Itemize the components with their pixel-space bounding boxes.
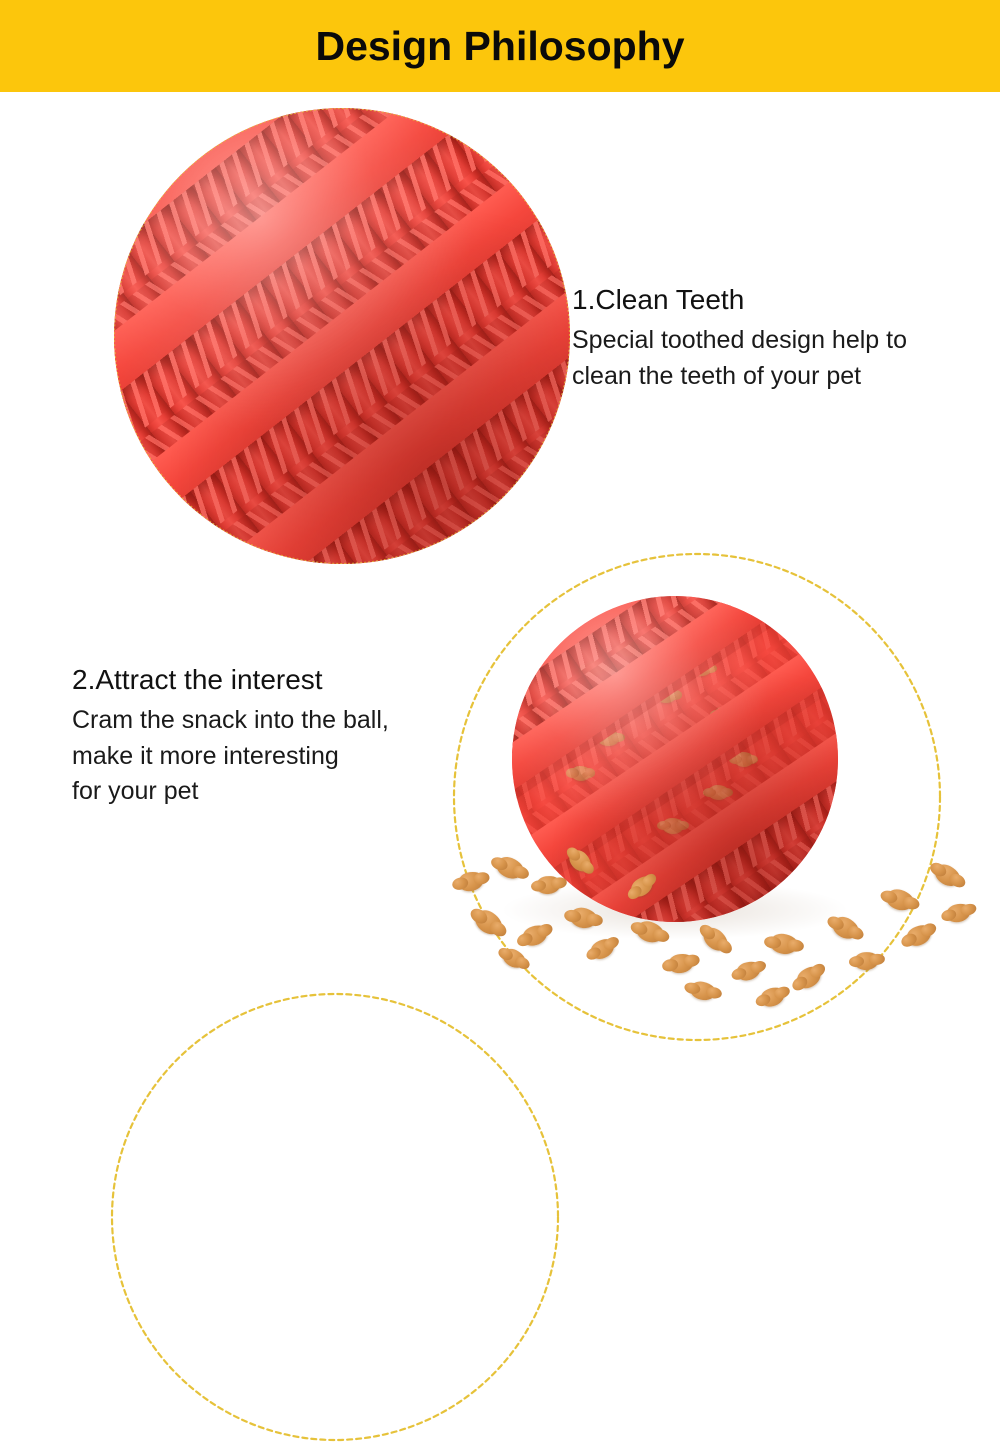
feature-1-heading: 1.Clean Teeth xyxy=(572,282,907,317)
feature-1-text-block: 1.Clean Teeth Special toothed design hel… xyxy=(572,282,907,394)
scattered-kibble-group xyxy=(440,830,1000,1000)
page-title: Design Philosophy xyxy=(315,26,684,67)
decorative-dashed-circle-3 xyxy=(110,992,560,1442)
toothed-ball-closeup-image xyxy=(114,108,570,564)
feature-2-heading: 2.Attract the interest xyxy=(72,662,389,697)
header-banner: Design Philosophy xyxy=(0,0,1000,92)
feature-2-text-block: 2.Attract the interest Cram the snack in… xyxy=(72,662,389,810)
ball-dashed-outline xyxy=(114,108,570,564)
feature-1-body: Special toothed design help to clean the… xyxy=(572,323,907,394)
feature-1-body-line-2: clean the teeth of your pet xyxy=(572,359,907,395)
feature-2-body-line-2: make it more interesting xyxy=(72,739,389,775)
feature-2-body-line-1: Cram the snack into the ball, xyxy=(72,703,389,739)
feature-2-body-line-3: for your pet xyxy=(72,774,389,810)
feature-1-body-line-1: Special toothed design help to xyxy=(572,323,907,359)
feature-2-body: Cram the snack into the ball, make it mo… xyxy=(72,703,389,810)
